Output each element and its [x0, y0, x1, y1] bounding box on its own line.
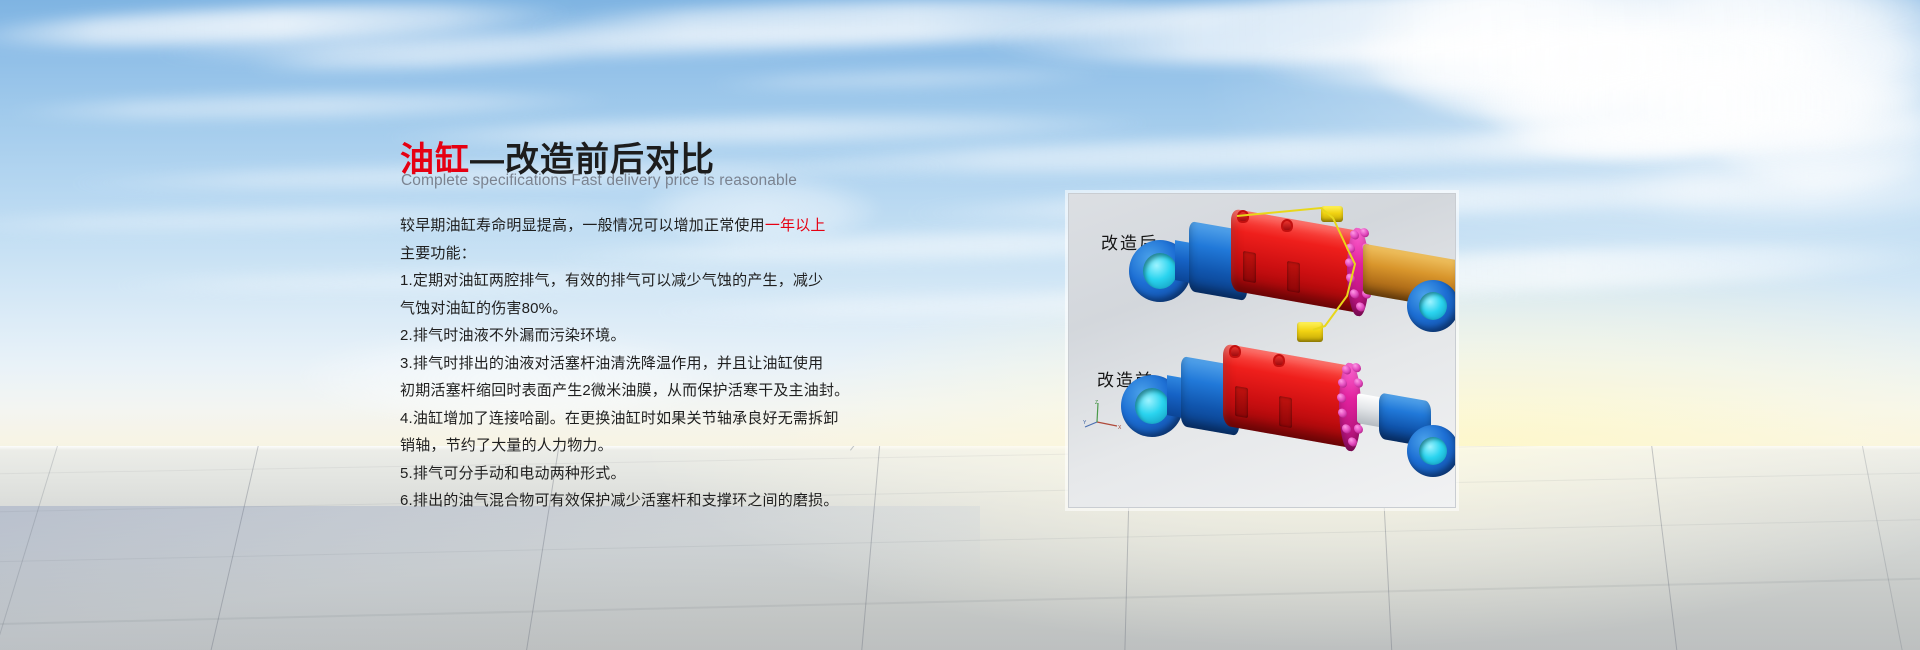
body-line: 气蚀对油缸的伤害80%。: [400, 295, 920, 323]
eye-bore: [1143, 253, 1177, 289]
feature-text-block: 较早期油缸寿命明显提高，一般情况可以增加正常使用一年以上 主要功能： 1.定期对…: [400, 212, 920, 515]
body-line: 较早期油缸寿命明显提高，一般情况可以增加正常使用一年以上: [400, 212, 920, 240]
body-line: 6.排出的油气混合物可有效保护减少活塞杆和支撑环之间的磨损。: [400, 487, 920, 515]
cylinder-before-modification: [1121, 339, 1451, 489]
lifting-lug: [1229, 345, 1241, 358]
barrel-rib: [1279, 396, 1292, 428]
eye-bore: [1419, 437, 1447, 465]
body-line: 销轴，节约了大量的人力物力。: [400, 432, 920, 460]
body-line: 2.排气时油液不外漏而污染环境。: [400, 322, 920, 350]
body-line: 初期活塞杆缩回时表面产生2微米油膜，从而保护活寒干及主油封。: [400, 377, 920, 405]
body-line: 1.定期对油缸两腔排气，有效的排气可以减少气蚀的产生，减少: [400, 267, 920, 295]
front-eye-mount: [1407, 280, 1456, 332]
page-subtitle: Complete specifications Fast delivery pr…: [401, 172, 797, 190]
lifting-lug: [1273, 354, 1285, 367]
cylinder-after-modification: [1129, 204, 1456, 354]
product-image-panel: 改造后 改造前 X Z Y: [1068, 193, 1456, 508]
exhaust-tubing: [1229, 204, 1409, 349]
svg-text:Y: Y: [1083, 420, 1087, 426]
barrel-rib: [1235, 386, 1248, 418]
body-line-text: 较早期油缸寿命明显提高，一般情况可以增加正常使用: [400, 217, 765, 234]
promo-banner: 油缸—改造前后对比 Complete specifications Fast d…: [0, 0, 1920, 650]
axis-triad-icon: X Z Y: [1083, 400, 1123, 436]
eye-bore: [1135, 388, 1169, 424]
body-line: 4.油缸增加了连接哈副。在更换油缸时如果关节轴承良好无需拆卸: [400, 405, 920, 433]
body-line: 3.排气时排出的油液对活塞杆油清洗降温作用，并且让油缸使用: [400, 350, 920, 378]
body-line: 5.排气可分手动和电动两种形式。: [400, 460, 920, 488]
body-line: 主要功能：: [400, 240, 920, 268]
front-eye-mount: [1407, 425, 1456, 477]
banner-content: 油缸—改造前后对比 Complete specifications Fast d…: [0, 0, 1920, 650]
body-line-highlight: 一年以上: [765, 217, 826, 234]
svg-text:Z: Z: [1095, 400, 1098, 406]
eye-bore: [1419, 292, 1447, 320]
